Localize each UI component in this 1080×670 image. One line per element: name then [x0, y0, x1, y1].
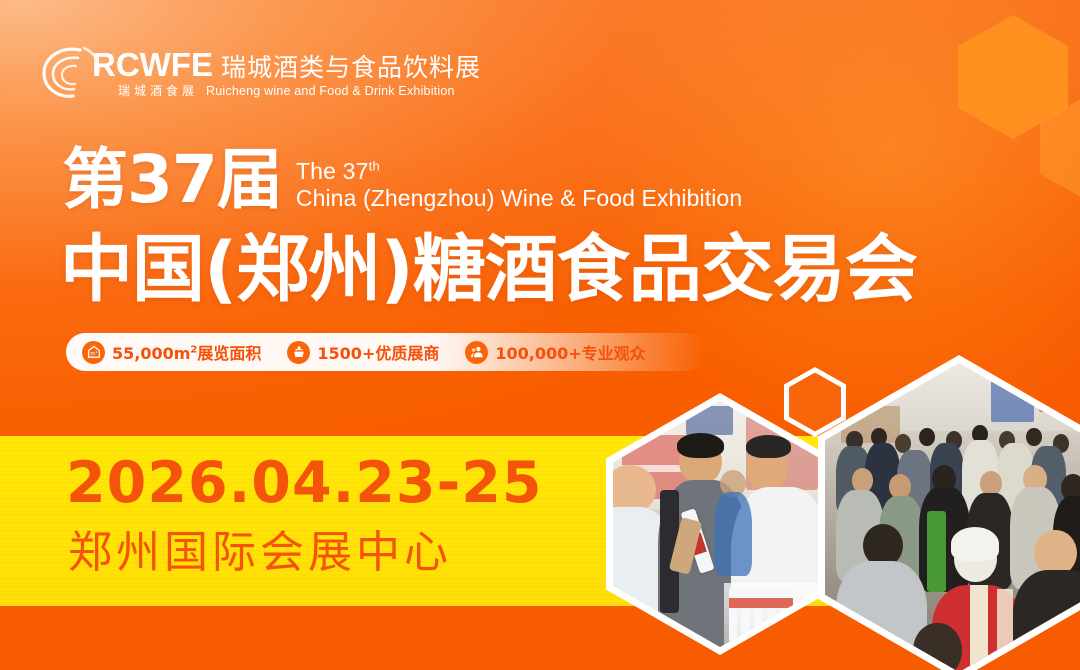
stat-item-visitors: 100,000+专业观众 [465, 340, 645, 364]
stat-item-exhibitors: 1500+优质展商 [287, 340, 439, 364]
headline-row-edition: 第37届 The 37th China (Zhengzhou) Wine & F… [62, 148, 742, 212]
stat-value-exhibition-area: 55,000m [112, 344, 190, 363]
edition-en-ordinal: th [369, 158, 380, 173]
stat-label-exhibition-area: 展览面积 [197, 344, 261, 363]
edition-en-prefix: The 37 [296, 158, 369, 184]
stat-item-exhibition-area: m² 55,000m2展览面积 [82, 340, 261, 364]
edition-number-cn: 第37届 [62, 148, 282, 211]
logo-chinese-name: 瑞城酒类与食品饮料展 [221, 55, 481, 80]
event-logo: RCWFE 瑞城酒类与食品饮料展 瑞城酒食展 Ruicheng wine and… [40, 42, 440, 104]
svg-text:m²: m² [90, 351, 97, 357]
stat-text-exhibitors: 1500+优质展商 [317, 340, 439, 364]
stat-value-exhibitors: 1500+ [317, 344, 375, 363]
stat-label-visitors: 专业观众 [582, 344, 646, 363]
visitor-person-icon [465, 341, 488, 364]
logo-abbreviation: RCWFE [92, 48, 213, 81]
stat-text-visitors: 100,000+专业观众 [495, 340, 645, 364]
event-date: 2026.04.23-25 [66, 455, 543, 512]
headline-english-title: China (Zhengzhou) Wine & Food Exhibition [296, 185, 742, 212]
stat-label-exhibitors: 优质展商 [375, 344, 439, 363]
headline-chinese-title: 中国(郑州)糖酒食品交易会 [60, 232, 917, 309]
exhibitor-booth-icon [287, 341, 310, 364]
logo-english-name: Ruicheng wine and Food & Drink Exhibitio… [206, 84, 455, 98]
headline-english-block: The 37th China (Zhengzhou) Wine & Food E… [296, 158, 742, 212]
edition-number-en: The 37th [296, 158, 742, 185]
event-venue: 郑州国际会展中心 [68, 531, 452, 575]
key-figures-bar: m² 55,000m2展览面积 1500+优质展商 [66, 333, 706, 371]
logo-chinese-short-name: 瑞城酒食展 [118, 82, 198, 99]
exhibition-promo-banner: RCWFE 瑞城酒类与食品饮料展 瑞城酒食展 Ruicheng wine and… [0, 0, 1080, 670]
exhibition-area-house-icon: m² [82, 341, 105, 364]
stat-value-visitors: 100,000+ [495, 344, 581, 363]
stat-text-exhibition-area: 55,000m2展览面积 [112, 340, 261, 364]
